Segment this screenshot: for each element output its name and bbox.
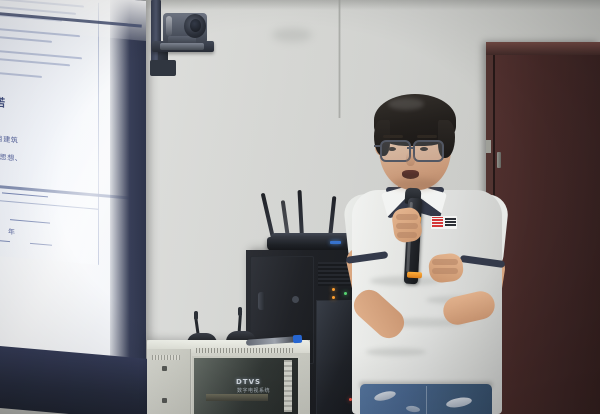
document-field-1: 人： xyxy=(0,205,1,216)
beige-cabinet-side-vent xyxy=(152,355,180,360)
wall-smudge xyxy=(272,28,312,42)
projected-document: 诺 项目建筑 的思想、 人： 年 xyxy=(0,0,99,265)
gooseneck-mic-1-tip xyxy=(194,311,198,320)
pen-microphone-cap xyxy=(293,335,303,344)
black-rack-knob[interactable] xyxy=(292,296,299,303)
chest-logo-black-mark xyxy=(445,218,456,226)
document-heading: 诺 xyxy=(0,94,6,111)
microphone-band-lower xyxy=(407,272,422,279)
beige-cabinet-top-vent xyxy=(196,348,294,353)
document-line-1: 项目建筑 xyxy=(0,133,18,146)
document-field-2: 年 xyxy=(8,227,16,238)
beige-cabinet-logo: DTVS xyxy=(236,378,261,386)
black-rack-handle[interactable] xyxy=(258,292,265,310)
eyebrow-left xyxy=(383,135,403,138)
document-line-2: 的思想、 xyxy=(0,152,22,165)
glasses-bridge xyxy=(407,147,413,149)
finger-2 xyxy=(396,223,418,229)
camera-lens-glass xyxy=(190,19,201,32)
finger-1 xyxy=(396,214,418,220)
camera-bracket-plate xyxy=(150,60,176,76)
cabinet-screw-1 xyxy=(162,366,167,371)
beige-cabinet-logo-subtitle: 数字电视系统 xyxy=(237,387,270,394)
beige-cabinet-inner-shelf xyxy=(206,394,268,401)
camera-body-highlight xyxy=(166,16,172,36)
chest-logo-red-mark xyxy=(432,217,443,227)
nose xyxy=(406,152,415,166)
hair-highlight xyxy=(388,98,424,110)
glasses-temple xyxy=(374,145,382,147)
eyebrow-right xyxy=(417,135,437,138)
camera-base xyxy=(160,43,204,50)
presenter xyxy=(330,86,530,414)
photo-scene: 诺 项目建筑 的思想、 人： 年 xyxy=(0,0,600,414)
screen-right-edge xyxy=(110,0,146,381)
finger-4 xyxy=(432,259,458,265)
glasses-lens-right xyxy=(413,140,444,162)
gooseneck-mic-2-tip xyxy=(238,307,242,316)
beige-cabinet-mounting-rail xyxy=(284,360,292,412)
finger-5 xyxy=(432,268,458,274)
projection-screen: 诺 项目建筑 的思想、 人： 年 xyxy=(0,0,146,381)
cabinet-screw-2 xyxy=(162,398,167,403)
door-top-bevel xyxy=(486,42,600,55)
jeans-seam xyxy=(426,386,427,414)
finger-3 xyxy=(397,232,417,238)
